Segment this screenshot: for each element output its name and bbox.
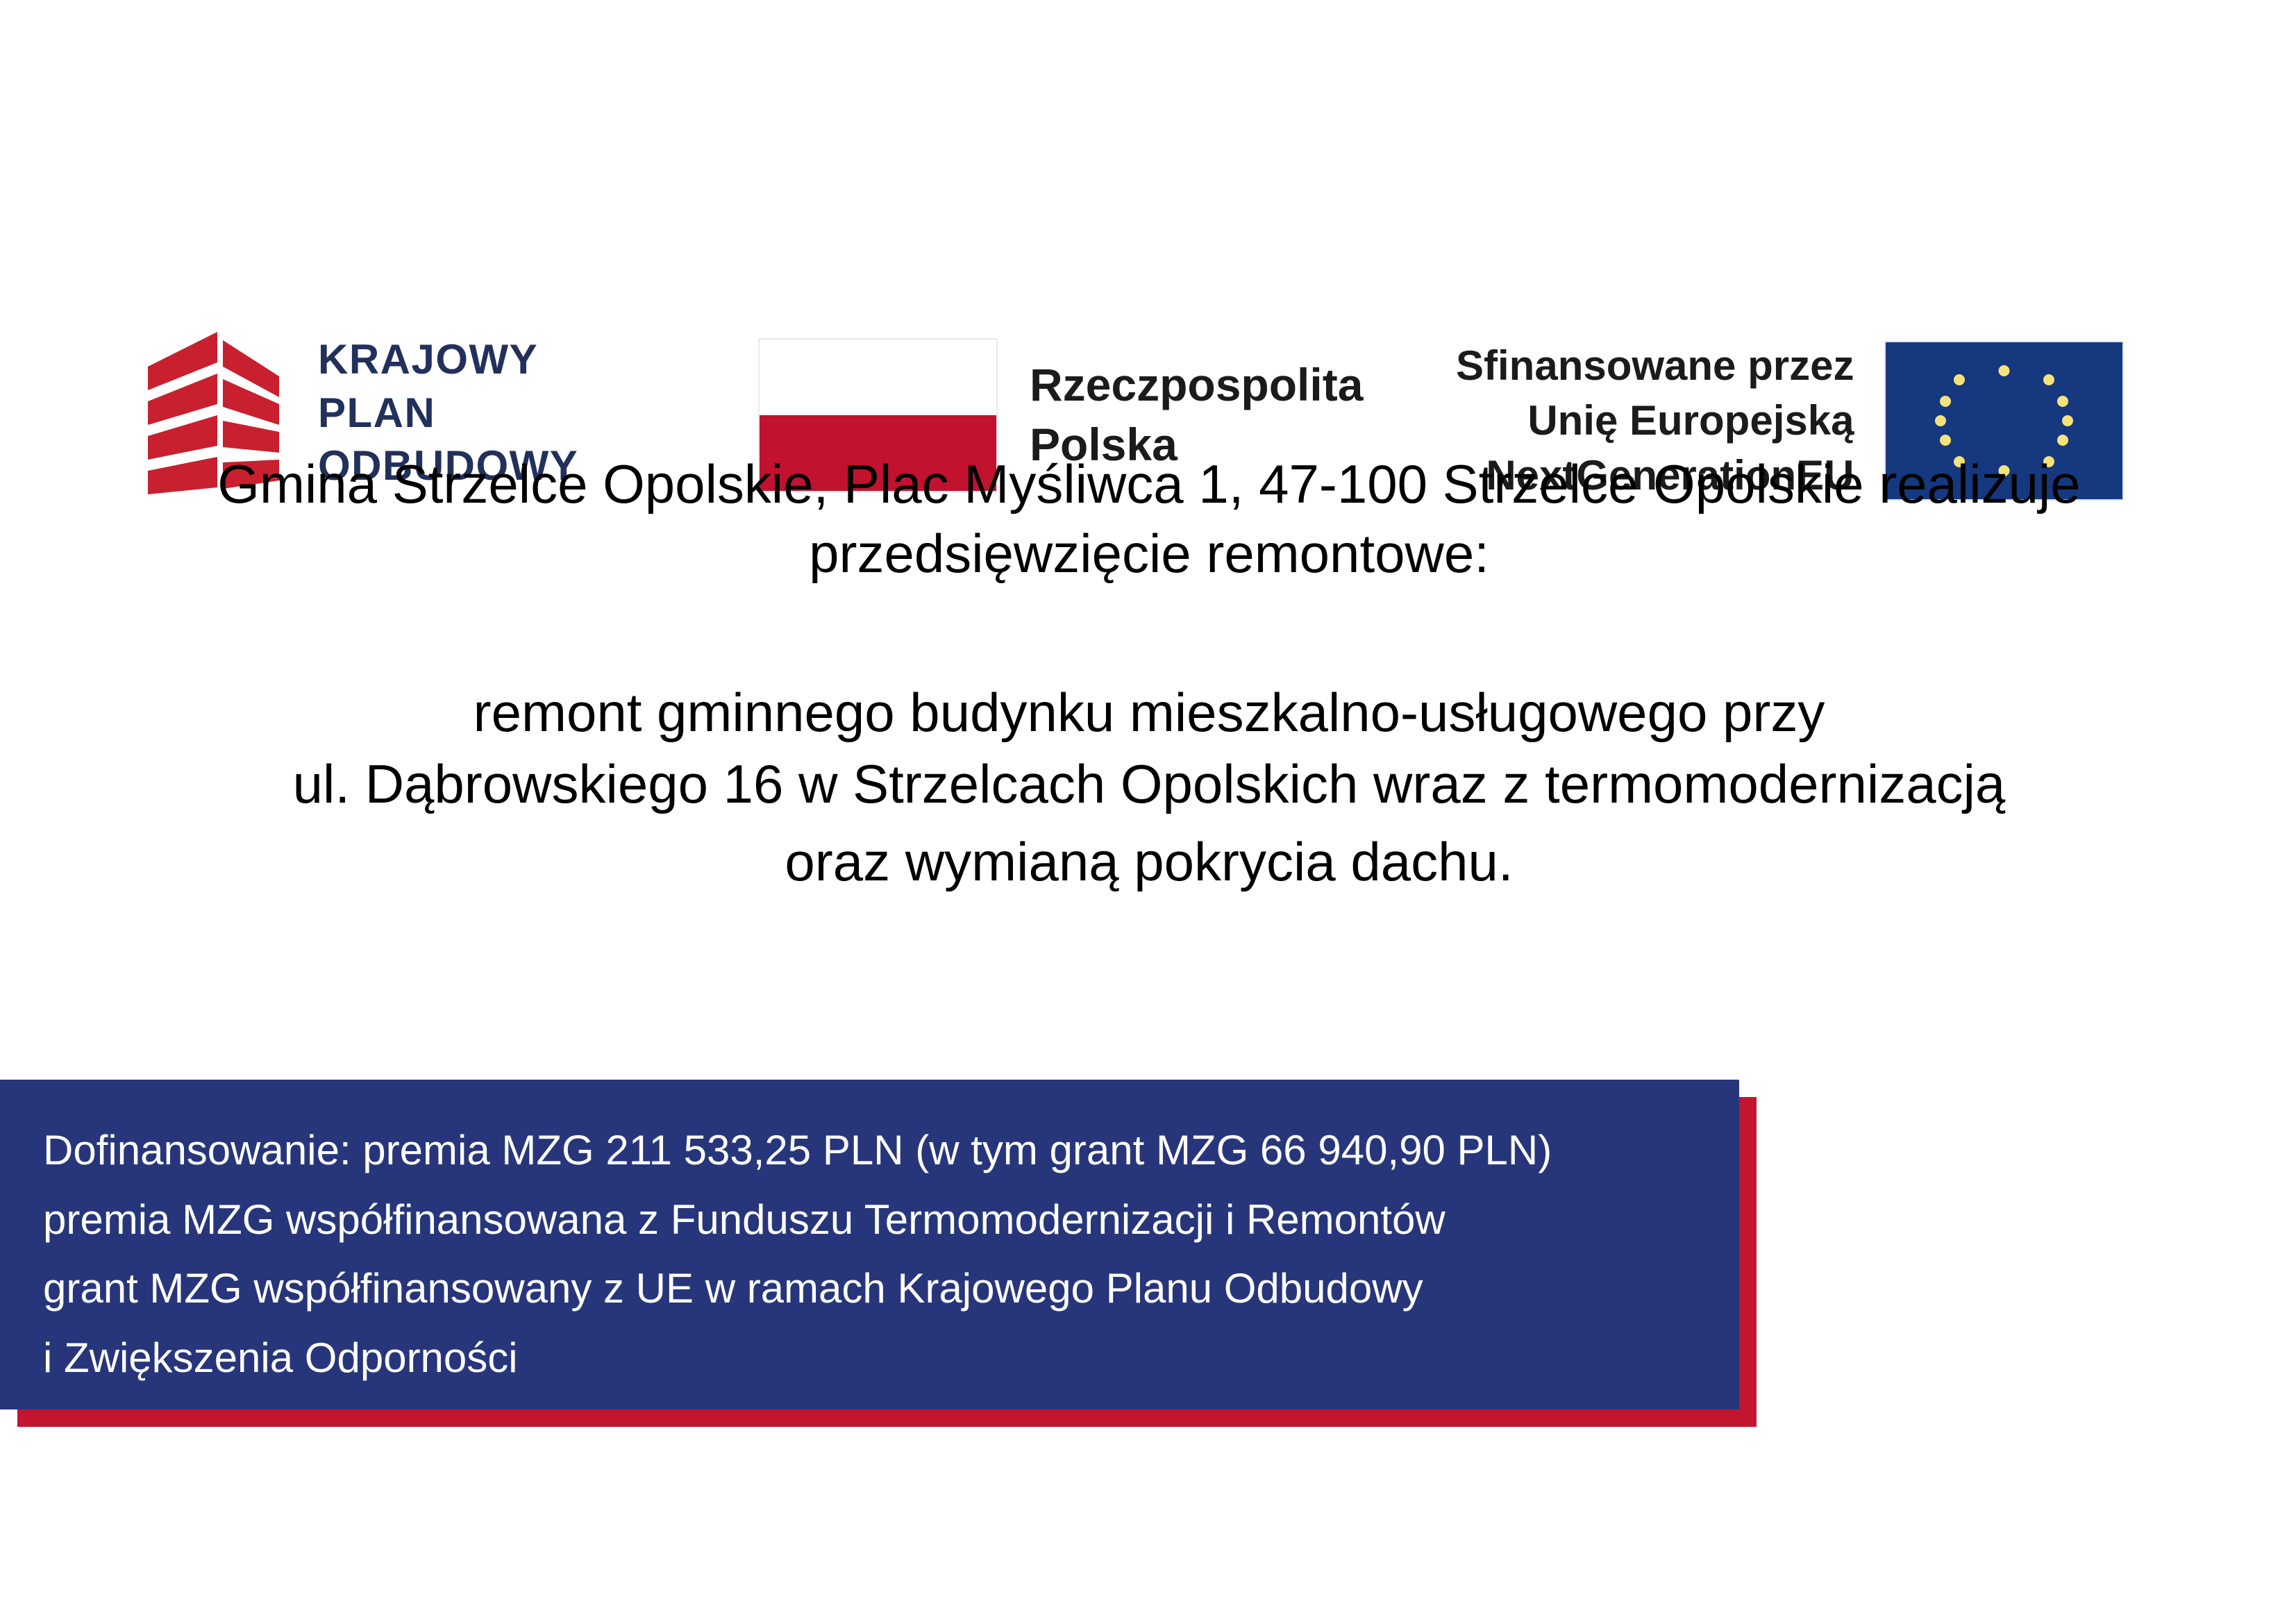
project-line-1: remont gminnego budynku mieszkalno-usług… bbox=[111, 677, 2187, 748]
funding-line-4: i Zwiększenia Odporności bbox=[43, 1323, 1698, 1393]
kpo-logo-line-1: KRAJOWY bbox=[318, 333, 578, 387]
statement-paragraph: Gmina Strzelce Opolskie, Plac Myśliwca 1… bbox=[111, 450, 2187, 589]
statement-line-1: Gmina Strzelce Opolskie, Plac Myśliwca 1… bbox=[217, 453, 2080, 514]
project-description: remont gminnego budynku mieszkalno-usług… bbox=[111, 677, 2187, 820]
project-description-tail: oraz wymianą pokrycia dachu. bbox=[111, 826, 2187, 898]
funding-info-block: Dofinansowanie: premia MZG 211 533,25 PL… bbox=[0, 1080, 1777, 1427]
funding-line-1: Dofinansowanie: premia MZG 211 533,25 PL… bbox=[43, 1116, 1698, 1185]
eu-logo-line-1: Sfinansowane przez bbox=[1456, 338, 1854, 393]
project-line-2: ul. Dąbrowskiego 16 w Strzelcach Opolski… bbox=[111, 748, 2187, 820]
rzeczpospolita-logo-line-1: Rzeczpospolita bbox=[1030, 355, 1363, 415]
eu-logo-line-2: Unię Europejską bbox=[1456, 393, 1854, 448]
flag-white-band bbox=[760, 340, 996, 415]
funding-box: Dofinansowanie: premia MZG 211 533,25 PL… bbox=[0, 1080, 1739, 1409]
funding-line-2: premia MZG współfinansowana z Funduszu T… bbox=[43, 1185, 1698, 1255]
project-line-3: oraz wymianą pokrycia dachu. bbox=[111, 826, 2187, 898]
logo-strip: KRAJOWY PLAN ODBUDOWY Rzeczpospolita Pol… bbox=[0, 156, 2296, 365]
kpo-logo-line-2: PLAN bbox=[318, 387, 578, 440]
funding-line-3: grant MZG współfinansowany z UE w ramach… bbox=[43, 1254, 1698, 1323]
poster-page: { "logos": { "kpo": { "name": "krajowy-p… bbox=[0, 0, 2296, 1624]
statement-line-2: przedsięwzięcie remontowe: bbox=[809, 523, 1489, 584]
